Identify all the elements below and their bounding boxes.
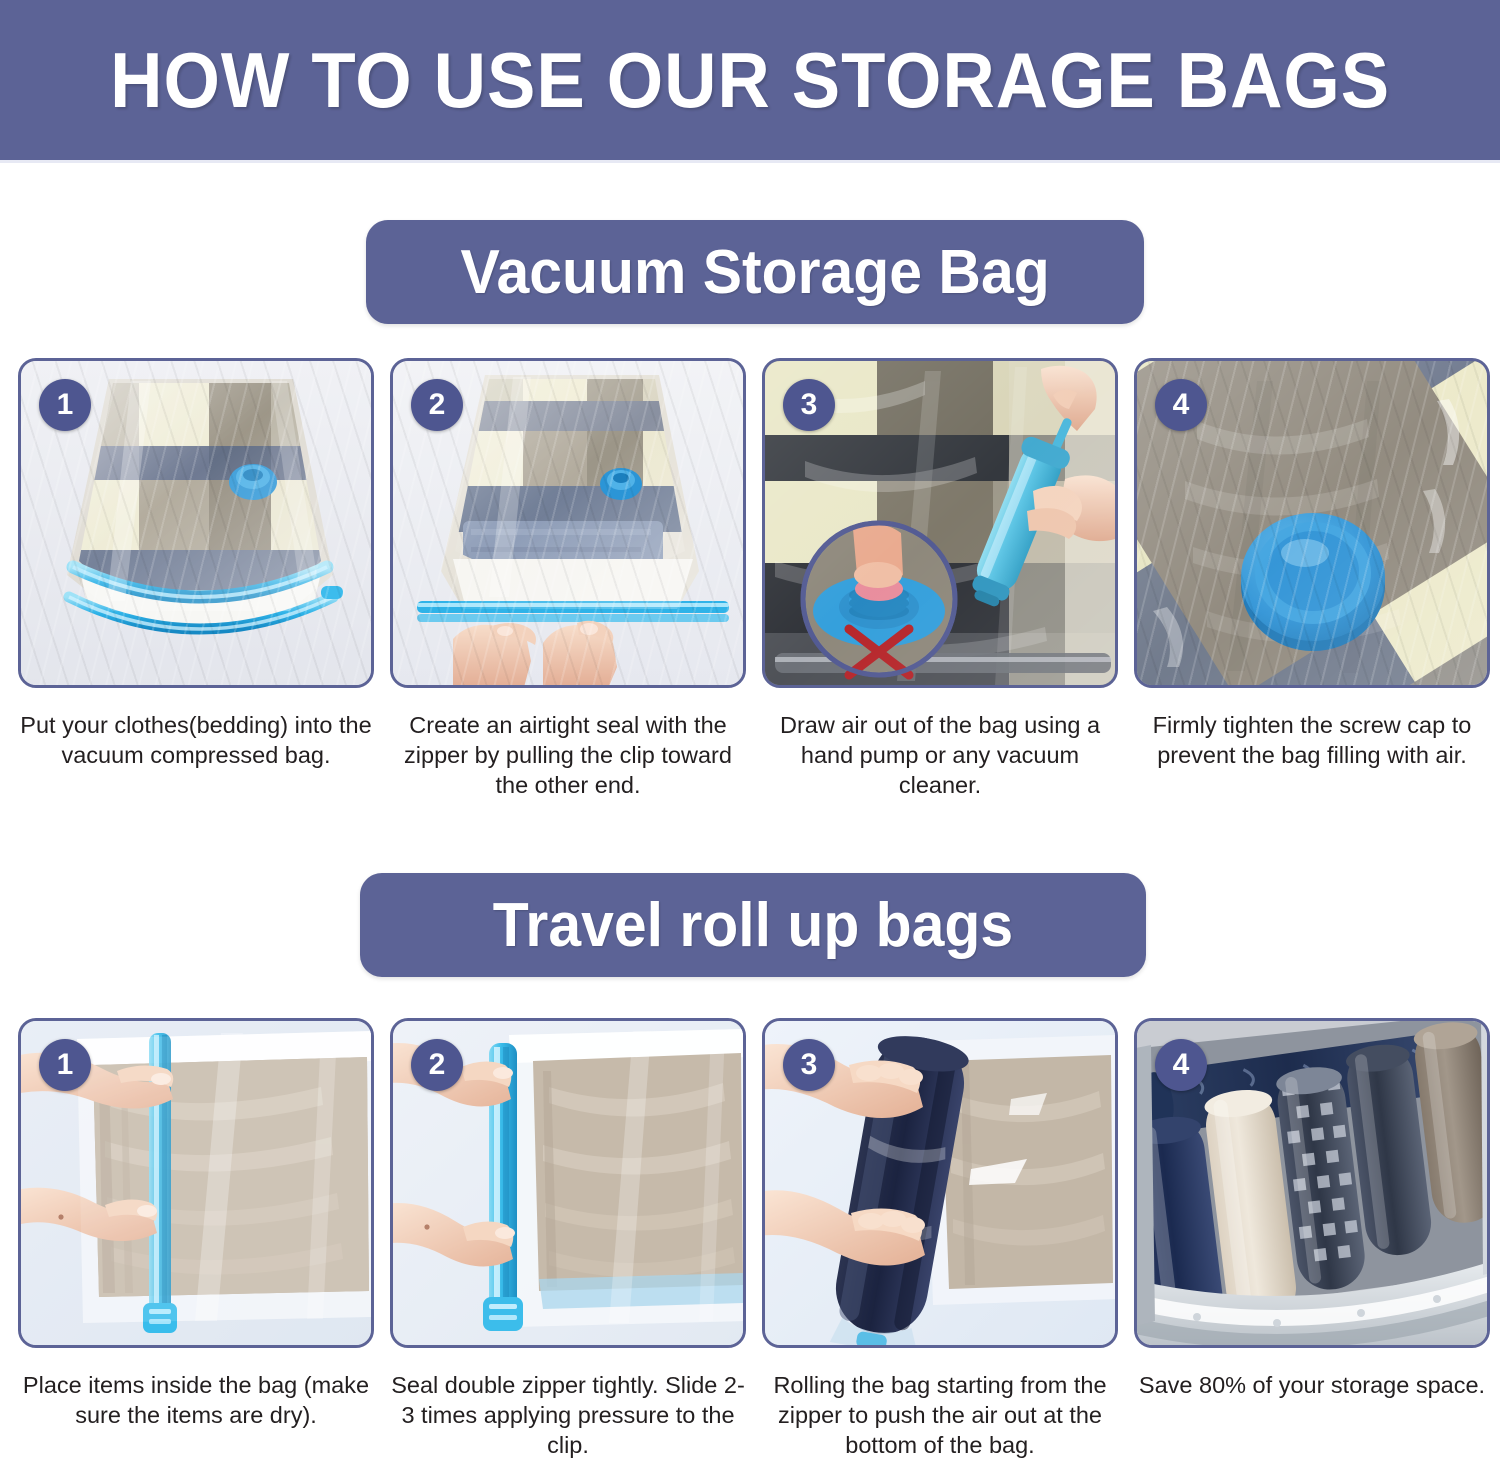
step-card-travel-3: 3 [762,1018,1118,1348]
step-caption-travel-3: Rolling the bag starting from the zipper… [762,1370,1118,1460]
header-divider [0,160,1500,163]
step-caption-vacuum-4: Firmly tighten the screw cap to prevent … [1134,710,1490,770]
step-card-travel-4: 4 [1134,1018,1490,1348]
step-number-badge: 4 [1155,1039,1207,1091]
infographic-page: HOW TO USE OUR STORAGE BAGS Vacuum Stora… [0,0,1500,1450]
step-caption-vacuum-1: Put your clothes(bedding) into the vacuu… [18,710,374,770]
step-number-badge: 1 [39,1039,91,1091]
step-caption-travel-4: Save 80% of your storage space. [1134,1370,1490,1400]
step-number-badge: 4 [1155,379,1207,431]
step-card-travel-2: 2 [390,1018,746,1348]
step-number-badge: 3 [783,1039,835,1091]
step-card-vacuum-4: 4 [1134,358,1490,688]
step-number-badge: 3 [783,379,835,431]
step-card-travel-1: 1 [18,1018,374,1348]
page-header-banner: HOW TO USE OUR STORAGE BAGS [0,0,1500,160]
section-title-label: Travel roll up bags [493,890,1013,961]
section-title-travel-roll-up-bags: Travel roll up bags [360,873,1146,977]
step-number-badge: 2 [411,1039,463,1091]
step-card-vacuum-1: 1 [18,358,374,688]
step-number-badge: 1 [39,379,91,431]
step-caption-travel-2: Seal double zipper tightly. Slide 2-3 ti… [390,1370,746,1460]
page-title: HOW TO USE OUR STORAGE BAGS [110,35,1390,126]
step-caption-vacuum-2: Create an airtight seal with the zipper … [390,710,746,800]
step-card-vacuum-2: 2 [390,358,746,688]
section-title-label: Vacuum Storage Bag [460,237,1049,308]
step-card-vacuum-3: 3 [762,358,1118,688]
step-caption-travel-1: Place items inside the bag (make sure th… [18,1370,374,1430]
section-title-vacuum-storage-bag: Vacuum Storage Bag [366,220,1144,324]
step-caption-vacuum-3: Draw air out of the bag using a hand pum… [762,710,1118,800]
step-number-badge: 2 [411,379,463,431]
